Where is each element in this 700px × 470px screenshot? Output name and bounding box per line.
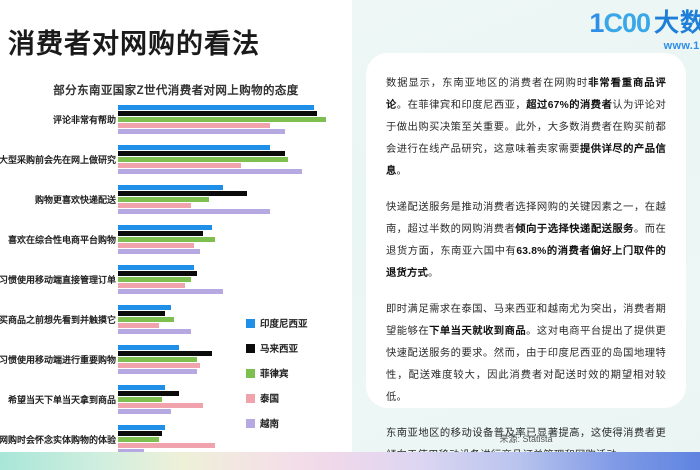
chart-bar [118, 265, 194, 270]
chart-bar [118, 437, 159, 442]
chart-bar [118, 105, 314, 110]
chart-bar-group [118, 184, 352, 224]
analysis-text: 。在菲律宾和印度尼西亚， [397, 100, 526, 111]
chart-bar [118, 425, 165, 430]
brand-logo[interactable]: 1C00 大数 www.10 [589, 10, 700, 52]
chart-bar [118, 157, 288, 162]
analysis-paragraph: 即时满足需求在泰国、马来西亚和越南尤为突出，消费者期望能够在下单当天就收到商品。… [386, 299, 666, 409]
chart-bar [118, 391, 179, 396]
logo-mark-left: 1 [589, 8, 603, 38]
chart-bar [118, 249, 200, 254]
legend-item[interactable]: 马来西亚 [246, 341, 308, 355]
chart-bar [118, 323, 159, 328]
chart-bar [118, 409, 171, 414]
source-label: 来源: Statista [366, 432, 686, 445]
chart-bar [118, 117, 326, 122]
chart-bar-group [118, 104, 352, 144]
chart-bar [118, 311, 165, 316]
analysis-highlight: 倾向于选择快递配送服务 [515, 224, 634, 235]
analysis-highlight: 下单当天就收到商品 [429, 326, 526, 337]
chart-category-label: 买商品之前想先看到并触摸它 [0, 316, 116, 325]
chart-category-label: 评论非常有帮助 [0, 116, 116, 125]
chart-bar [118, 129, 285, 134]
legend-swatch-icon [246, 419, 255, 428]
chart-group: 购物更喜欢快递配送 [0, 184, 352, 224]
chart-bar [118, 225, 212, 230]
legend-label: 泰国 [260, 391, 279, 405]
chart-bar-group [118, 144, 352, 184]
chart-category-label: 购物更喜欢快递配送 [0, 196, 116, 205]
chart-bar [118, 351, 212, 356]
chart-category-label: 网购时会怀念实体购物的体验 [0, 436, 116, 445]
chart-bar [118, 317, 174, 322]
chart-bar-group [118, 384, 352, 424]
logo-row: 1C00 大数 [589, 10, 700, 37]
chart-bar-group [118, 344, 352, 384]
legend-item[interactable]: 印度尼西亚 [246, 316, 308, 330]
chart-bar [118, 203, 191, 208]
legend-swatch-icon [246, 394, 255, 403]
chart-bar [118, 345, 179, 350]
chart-bar [118, 277, 191, 282]
analysis-card: 数据显示，东南亚地区的消费者在网购时非常看重商品评论。在菲律宾和印度尼西亚，超过… [366, 53, 686, 408]
chart-bar [118, 283, 185, 288]
chart-category-label: 习惯使用移动端进行重要购物 [0, 356, 116, 365]
legend-label: 越南 [260, 416, 279, 430]
chart-bar [118, 443, 215, 448]
logo-brand-text: 大数 [654, 11, 700, 36]
chart-bar [118, 305, 171, 310]
legend-label: 印度尼西亚 [260, 316, 308, 330]
legend-item[interactable]: 菲律宾 [246, 366, 308, 380]
chart-bar [118, 271, 197, 276]
legend-label: 马来西亚 [260, 341, 298, 355]
chart-category-label: 喜欢在综合性电商平台购物 [0, 236, 116, 245]
chart-bar [118, 145, 270, 150]
chart-bar [118, 369, 197, 374]
chart-group: 习惯使用移动端直接管理订单 [0, 264, 352, 304]
legend-item[interactable]: 泰国 [246, 391, 308, 405]
chart-bar [118, 151, 285, 156]
chart-bar-group [118, 264, 352, 304]
chart-bar [118, 363, 200, 368]
chart-category-label: 大型采购前会先在网上做研究 [0, 156, 116, 165]
analysis-text: 。 [428, 268, 439, 279]
chart-bar [118, 431, 162, 436]
chart-bar-group [118, 304, 352, 344]
chart-bar [118, 329, 191, 334]
legend-swatch-icon [246, 344, 255, 353]
chart-bar [118, 111, 317, 116]
chart-bar [118, 163, 241, 168]
legend-swatch-icon [246, 319, 255, 328]
analysis-paragraph: 快递配送服务是推动消费者选择网购的关键因素之一，在越南，超过半数的网购消费者倾向… [386, 197, 666, 285]
chart-category-label: 希望当天下单当天拿到商品 [0, 396, 116, 405]
logo-mark-mid: C [603, 8, 622, 38]
legend-label: 菲律宾 [260, 366, 289, 380]
chart-bar [118, 397, 162, 402]
logo-url: www.10 [664, 40, 700, 52]
chart-group: 评论非常有帮助 [0, 104, 352, 144]
analysis-text: 。 [397, 166, 408, 177]
legend-swatch-icon [246, 369, 255, 378]
chart-bar [118, 403, 203, 408]
bottom-gradient-strip [0, 452, 700, 470]
chart-bar [118, 185, 223, 190]
chart-bar [118, 289, 223, 294]
analysis-text: 。这对电商平台提出了提供更快速配送服务的要求。然而，由于印度尼西亚的岛国地理特性… [386, 326, 666, 403]
chart-bar [118, 197, 209, 202]
analysis-highlight: 超过67%的消费者 [526, 100, 612, 111]
chart-group: 喜欢在综合性电商平台购物 [0, 224, 352, 264]
chart-bar [118, 357, 197, 362]
page-title: 消费者对网购的看法 [8, 22, 260, 61]
chart-group: 大型采购前会先在网上做研究 [0, 144, 352, 184]
chart-bar [118, 169, 302, 174]
logo-mark: 1C00 [589, 10, 650, 37]
chart-bar [118, 231, 203, 236]
chart-bar-group [118, 224, 352, 264]
infographic-root: 1C00 大数 www.10 消费者对网购的看法 部分东南亚国家Z世代消费者对网… [0, 0, 700, 470]
analysis-paragraph: 数据显示，东南亚地区的消费者在网购时非常看重商品评论。在菲律宾和印度尼西亚，超过… [386, 73, 666, 183]
chart-bar [118, 191, 247, 196]
legend-item[interactable]: 越南 [246, 416, 308, 430]
chart-bar [118, 385, 165, 390]
logo-mark-right: 00 [622, 8, 650, 38]
chart-category-label: 习惯使用移动端直接管理订单 [0, 276, 116, 285]
chart-legend: 印度尼西亚马来西亚菲律宾泰国越南 [246, 316, 308, 441]
chart-bar [118, 243, 194, 248]
chart-bar [118, 237, 215, 242]
chart-bar [118, 123, 270, 128]
analysis-text: 数据显示，东南亚地区的消费者在网购时 [386, 78, 588, 89]
chart-bar [118, 209, 270, 214]
chart-subtitle: 部分东南亚国家Z世代消费者对网上购物的态度 [0, 82, 352, 98]
